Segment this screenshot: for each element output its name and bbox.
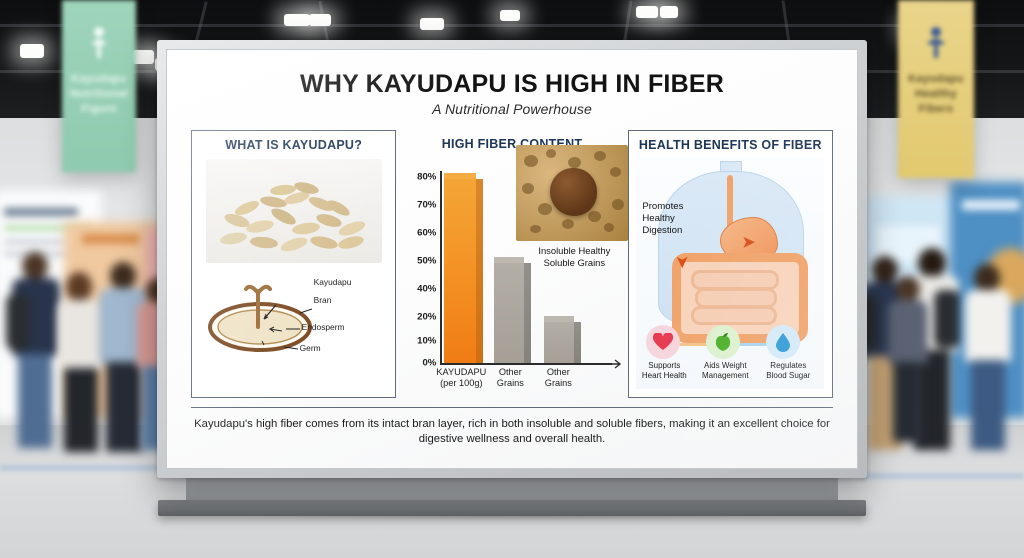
banner-line: Fibers [919,102,954,117]
fiber-seed [550,168,597,216]
x-axis-arrow-icon [608,357,622,371]
insoluble-fiber-macro-photo [516,145,628,241]
inset-photo-caption: Insoluble Healthy Soluble Grains [520,245,628,269]
anatomy-label-bran: Bran [314,295,332,305]
poster-columns: WHAT IS KAYUDAPU? [191,130,833,398]
benefit-icons-row: Supports Heart Health Aids Weight Manage… [640,325,820,387]
benefit-circle-water-drop [766,325,800,359]
benefit-circle-apple [706,325,740,359]
panel-high-fiber-content: HIGH FIBER CONTENT 80% 70% 60% 50% 40% 2… [410,130,613,398]
y-axis-tick: 40% [410,284,436,295]
person-pictogram-icon [923,26,949,60]
background-poster-text [4,240,68,244]
exhibition-hall-scene: Kayudapu Nutritional Figure Kayudapu Hea… [0,0,1024,558]
poster-subtitle: A Nutritional Powerhouse [191,101,833,117]
banner-line: Kayudapu [908,72,964,87]
ceiling-spotlight [660,6,678,18]
panel-health-benefits: HEALTH BENEFITS OF FIBER ➤ ➤ [628,130,833,398]
ceiling-spotlight [284,14,310,26]
banner-kayudapu-nutritional: Kayudapu Nutritional Figure [62,0,136,172]
benefit-caption-heart: Supports Heart Health [632,361,696,380]
panel-heading: WHAT IS KAYUDAPU? [225,138,362,152]
bar-other-grains-2 [544,322,574,363]
x-axis-line [440,363,612,365]
display-board-frame: WHY KAYUDAPU IS HIGH IN FIBER A Nutritio… [157,40,867,478]
background-poster-text [4,208,78,216]
benefit-circle-heart [646,325,680,359]
board-stand-base [158,500,866,516]
grain-cross-section-diagram: Kayudapu Bran Endosperm Germ [204,269,384,357]
x-axis-tick-other-2: Other Grains [536,367,580,389]
benefit-caption-apple: Aids Weight Management [692,361,758,380]
poster: WHY KAYUDAPU IS HIGH IN FIBER A Nutritio… [166,49,858,469]
x-axis-tick-kayudapu: KAYUDAPU (per 100g) [432,367,490,389]
page-title: WHY KAYUDAPU IS HIGH IN FIBER [191,70,833,98]
ceiling-spotlight [420,18,444,30]
anatomy-label-germ: Germ [300,343,321,353]
background-poster-text [962,200,1020,210]
banner-line: Nutritional [70,87,128,102]
y-axis-tick: 20% [410,312,436,323]
bar-other-grains-1 [494,263,524,363]
banner-kayudapu-healthy-fibers: Kayudapu Healthy Fibers [898,0,974,178]
ceiling-spotlight [636,6,658,18]
background-poster-text [82,234,140,244]
y-axis-tick: 10% [410,336,436,347]
y-axis-tick: 60% [410,228,436,239]
digestive-system-diagram: ➤ ➤ Promotes Healthy Digestion [636,157,824,389]
x-axis-tick-other-1: Other Grains [490,367,530,389]
y-axis-line [440,171,442,365]
anatomy-label-kayudapu: Kayudapu [314,277,352,287]
panel-heading: HEALTH BENEFITS OF FIBER [639,138,822,152]
water-drop-icon [775,332,791,352]
ceiling-spotlight [500,10,520,21]
y-axis-tick: 50% [410,256,436,267]
intestine-arrow-icon: ➤ [674,256,692,269]
ceiling-spotlight [309,14,331,26]
benefit-caption-water: Regulates Blood Sugar [756,361,820,380]
attendee [962,264,1014,450]
banner-line: Figure [81,102,116,117]
banner-line: Kayudapu [71,72,127,87]
stomach-arrow-icon: ➤ [742,233,755,251]
y-axis-tick: 70% [410,200,436,211]
heart-icon [653,333,673,351]
y-axis-tick: 80% [410,172,436,183]
kayudapu-grain-photo [206,159,382,263]
bar-kayudapu [444,179,476,363]
digestion-label: Promotes Healthy Digestion [642,201,720,237]
banner-line: Healthy [915,87,957,102]
anatomy-label-endosperm: Endosperm [302,322,345,332]
panel-what-is-kayudapu: WHAT IS KAYUDAPU? [191,130,396,398]
apple-icon [713,332,733,352]
person-pictogram-icon [86,26,112,60]
fiber-bar-chart: 80% 70% 60% 50% 40% 20% 10% 0% [410,155,613,398]
attendee [886,276,930,442]
poster-caption: Kayudapu's high fiber comes from its int… [191,407,833,447]
ceiling-spotlight [20,44,44,58]
